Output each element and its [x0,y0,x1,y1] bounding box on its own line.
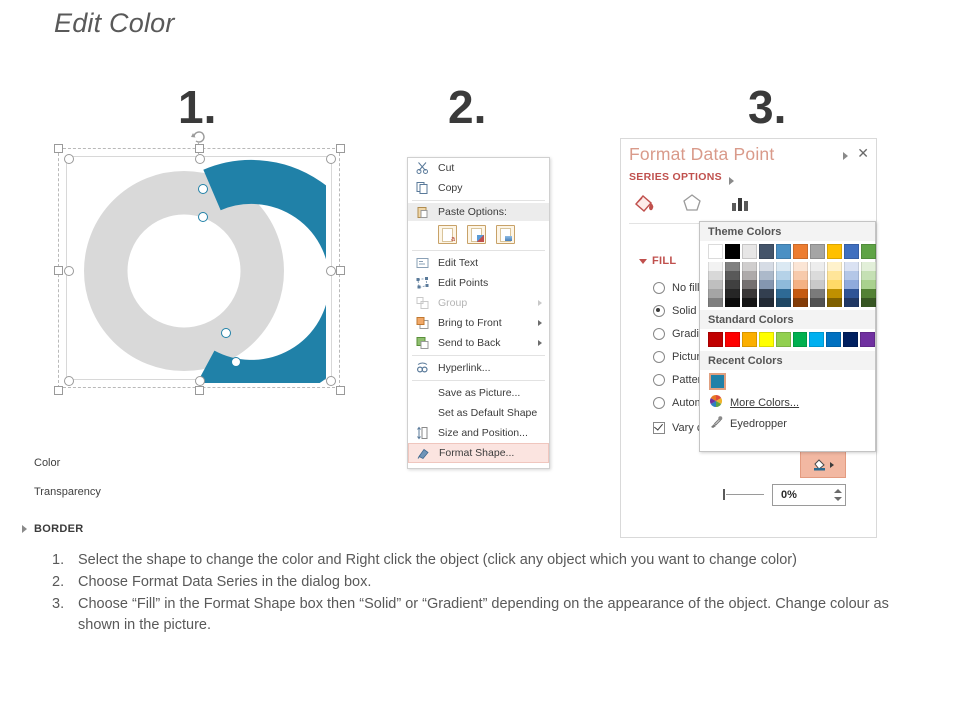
context-menu-item-save-as-picture[interactable]: Save as Picture... [408,383,549,403]
fill-option-gradient-fill[interactable]: Gradie [653,328,705,340]
plot-handle-middle-left[interactable] [64,266,74,276]
theme-color-column[interactable] [776,244,791,307]
data-point-handle-start-outer[interactable] [198,184,208,194]
data-point-handle-end-inner[interactable] [221,328,231,338]
context-menu-item-size-and-position[interactable]: Size and Position... [408,423,549,443]
theme-color-variant-swatch[interactable] [793,280,808,289]
theme-color-variant-swatch[interactable] [725,298,740,307]
instruction-number: 2. [52,572,78,593]
data-point-handle-end-outer[interactable] [231,357,241,367]
theme-color-variant-swatch[interactable] [759,280,774,289]
fill-option-label: No fill [672,282,700,294]
standard-color-swatch[interactable] [742,332,757,347]
theme-color-variant-swatch[interactable] [759,271,774,280]
theme-color-variant-swatch[interactable] [742,298,757,307]
theme-color-variant-swatch[interactable] [708,289,723,298]
standard-color-swatch[interactable] [809,332,824,347]
more-colors-label: More Colors... [730,397,799,409]
instruction-number: 3. [52,594,78,636]
selection-handle-bottom-right[interactable] [336,386,345,395]
theme-color-variant-swatch[interactable] [810,298,825,307]
transparency-slider-knob[interactable] [723,489,725,500]
theme-color-variant-swatch[interactable] [793,289,808,298]
chevron-down-icon[interactable] [843,152,848,160]
series-options-tab-icon[interactable] [727,191,753,217]
theme-color-variant-swatch[interactable] [861,280,876,289]
theme-color-variant-swatch[interactable] [759,262,774,271]
edit-text-icon [415,256,430,271]
theme-color-variant-swatch[interactable] [810,271,825,280]
radio-icon[interactable] [653,374,665,386]
step-number-3: 3. [748,84,786,130]
theme-color-variant-swatch[interactable] [844,280,859,289]
theme-colors-grid[interactable] [700,241,875,307]
selection-handle-middle-right[interactable] [336,266,345,275]
context-menu-label: Format Shape... [439,447,514,459]
context-menu-label: Size and Position... [438,427,528,439]
theme-color-column[interactable] [759,244,774,307]
selection-handle-bottom-center[interactable] [195,386,204,395]
instruction-item: 2. Choose Format Data Series in the dial… [52,572,902,593]
theme-color-swatch[interactable] [793,244,808,259]
theme-color-variant-swatch[interactable] [827,280,842,289]
context-menu-item-set-as-default-shape[interactable]: Set as Default Shape [408,403,549,423]
transparency-label: Transparency [34,486,101,498]
standard-color-swatch[interactable] [826,332,841,347]
context-menu-item-hyperlink[interactable]: Hyperlink... [408,358,549,378]
submenu-arrow-icon [538,320,542,326]
paste-options-row[interactable] [408,221,549,248]
theme-color-column[interactable] [827,244,842,307]
context-menu-label: Hyperlink... [438,362,491,374]
color-picker-flyout[interactable]: Theme Colors Standard Colors Recent Colo… [699,221,876,452]
theme-color-variant-swatch[interactable] [708,271,723,280]
paste-keep-text-only-icon[interactable] [438,225,457,244]
context-menu-item-send-to-back[interactable]: Send to Back [408,333,549,353]
theme-color-swatch[interactable] [810,244,825,259]
context-menu[interactable]: Cut Copy Paste Options: [407,157,550,469]
spinner-up-icon[interactable] [834,489,842,493]
context-menu-label: Save as Picture... [438,387,520,399]
context-menu-label: Copy [438,182,463,194]
radio-icon[interactable] [653,351,665,363]
theme-color-swatch[interactable] [844,244,859,259]
border-section-expander-icon[interactable] [22,525,27,533]
instruction-number: 1. [52,550,78,571]
theme-color-variant-swatch[interactable] [827,271,842,280]
format-pane-tabs[interactable] [631,191,753,217]
theme-color-variant-swatch[interactable] [861,289,876,298]
standard-colors-header: Standard Colors [700,310,875,329]
radio-icon[interactable] [653,328,665,340]
checkbox-icon-checked[interactable] [653,422,665,434]
color-picker-button[interactable] [800,451,846,478]
radio-icon-selected[interactable] [653,305,665,317]
group-icon [415,296,430,311]
edit-points-icon [415,276,430,291]
context-menu-label: Group [438,297,467,309]
theme-color-variant-swatch[interactable] [861,298,876,307]
theme-color-column[interactable] [708,244,723,307]
context-menu-item-cut[interactable]: Cut [408,158,549,178]
slide-canvas: Edit Color 1. 2. 3. [0,0,960,720]
context-menu-item-copy[interactable]: Copy [408,178,549,198]
theme-color-variant-swatch[interactable] [810,262,825,271]
context-menu-separator [412,355,545,356]
format-pane-title: Format Data Point [629,144,774,165]
theme-color-variant-swatch[interactable] [844,262,859,271]
theme-color-variant-swatch[interactable] [827,262,842,271]
context-menu-item-group: Group [408,293,549,313]
theme-color-variant-swatch[interactable] [708,262,723,271]
transparency-value: 0% [773,489,797,501]
instruction-item: 3. Choose “Fill” in the Format Shape box… [52,594,902,636]
context-menu-label: Set as Default Shape [438,407,537,419]
step-number-1: 1. [178,84,216,130]
context-menu-item-edit-points[interactable]: Edit Points [408,273,549,293]
plot-handle-top-left[interactable] [64,154,74,164]
theme-color-column[interactable] [861,244,876,307]
theme-color-variant-swatch[interactable] [708,280,723,289]
plot-handle-bottom-left[interactable] [64,376,74,386]
format-shape-icon [416,446,431,461]
theme-color-variant-swatch[interactable] [742,280,757,289]
fill-option-solid-fill[interactable]: Solid fi [653,305,705,317]
theme-color-swatch[interactable] [742,244,757,259]
context-menu-separator [412,380,545,381]
theme-color-column[interactable] [793,244,808,307]
standard-color-swatch[interactable] [759,332,774,347]
fill-option-automatic[interactable]: Autom [653,397,704,409]
theme-color-swatch[interactable] [776,244,791,259]
theme-color-variant-swatch[interactable] [742,271,757,280]
radio-icon[interactable] [653,397,665,409]
theme-color-variant-swatch[interactable] [827,298,842,307]
theme-color-variant-swatch[interactable] [844,271,859,280]
theme-color-swatch[interactable] [861,244,876,259]
eyedropper-icon [709,415,723,432]
theme-color-column[interactable] [742,244,757,307]
fill-and-line-tab-icon[interactable] [631,191,657,217]
context-menu-item-edit-text[interactable]: Edit Text [408,253,549,273]
theme-colors-header: Theme Colors [700,222,875,241]
context-menu-separator [412,200,545,201]
theme-color-variant-swatch[interactable] [793,271,808,280]
theme-color-variant-swatch[interactable] [861,271,876,280]
instruction-item: 1. Select the shape to change the color … [52,550,902,571]
data-point-handle-start-inner[interactable] [198,212,208,222]
theme-color-variant-swatch[interactable] [742,289,757,298]
theme-color-variant-swatch[interactable] [844,298,859,307]
instruction-text: Choose Format Data Series in the dialog … [78,572,902,593]
theme-color-variant-swatch[interactable] [725,280,740,289]
context-menu-label: Cut [438,162,454,174]
hyperlink-icon [415,361,430,376]
standard-color-swatch[interactable] [860,332,875,347]
context-menu-item-bring-to-front[interactable]: Bring to Front [408,313,549,333]
eyedropper-option[interactable]: Eyedropper [700,413,875,434]
paste-options-label: Paste Options: [438,206,507,218]
theme-color-variant-swatch[interactable] [759,298,774,307]
eyedropper-label: Eyedropper [730,418,787,430]
context-menu-label: Edit Text [438,257,478,269]
page-title: Edit Color [54,8,175,39]
border-section-label: BORDER [34,523,83,535]
series-options-dropdown-label[interactable]: SERIES OPTIONS [629,171,722,183]
selection-handle-middle-left[interactable] [54,266,63,275]
standard-color-swatch[interactable] [708,332,723,347]
send-to-back-icon [415,336,430,351]
theme-color-variant-swatch[interactable] [793,262,808,271]
scissors-icon [415,161,430,176]
submenu-arrow-icon [538,340,542,346]
context-menu-label: Bring to Front [438,317,502,329]
standard-color-swatch[interactable] [776,332,791,347]
recent-color-swatch[interactable] [709,373,726,390]
paste-picture-icon[interactable] [496,225,515,244]
theme-color-variant-swatch[interactable] [759,289,774,298]
bring-to-front-icon [415,316,430,331]
theme-color-variant-swatch[interactable] [776,280,791,289]
theme-color-variant-swatch[interactable] [776,271,791,280]
chart-selection-frame[interactable] [58,148,340,388]
theme-color-variant-swatch[interactable] [793,298,808,307]
fill-option-no-fill[interactable]: No fill [653,282,700,294]
theme-color-swatch[interactable] [759,244,774,259]
selection-handle-top-right[interactable] [336,144,345,153]
plot-handle-bottom-right[interactable] [326,376,336,386]
theme-color-swatch[interactable] [708,244,723,259]
transparency-spinner[interactable]: 0% [772,484,846,506]
theme-color-variant-swatch[interactable] [725,271,740,280]
theme-color-variant-swatch[interactable] [776,298,791,307]
selection-handle-top-center[interactable] [195,144,204,153]
theme-color-variant-swatch[interactable] [776,289,791,298]
theme-color-variant-swatch[interactable] [810,280,825,289]
theme-color-swatch[interactable] [725,244,740,259]
spinner-buttons[interactable] [833,487,842,503]
selection-handle-bottom-left[interactable] [54,386,63,395]
instruction-text: Select the shape to change the color and… [78,550,902,571]
instructions-list: 1. Select the shape to change the color … [52,550,902,638]
theme-color-variant-swatch[interactable] [742,262,757,271]
color-wheel-icon [709,394,723,411]
recent-colors-grid[interactable] [700,370,875,392]
theme-color-swatch[interactable] [827,244,842,259]
close-icon[interactable]: ✕ [857,146,869,160]
color-field-label: Color [34,457,60,469]
plot-handle-top-center[interactable] [195,154,205,164]
theme-color-column[interactable] [725,244,740,307]
instruction-text: Choose “Fill” in the Format Shape box th… [78,594,902,636]
recent-colors-header: Recent Colors [700,351,875,370]
size-position-icon [415,426,430,441]
standard-colors-grid[interactable] [700,329,875,351]
selection-handle-top-left[interactable] [54,144,63,153]
fill-bucket-icon [812,458,827,471]
paste-icon [415,205,430,220]
context-menu-separator [412,250,545,251]
context-menu-label: Edit Points [438,277,488,289]
transparency-slider-track[interactable] [726,494,764,495]
plot-handle-bottom-center[interactable] [195,376,205,386]
spinner-down-icon[interactable] [834,497,842,501]
submenu-arrow-icon [538,300,542,306]
plot-handle-middle-right[interactable] [326,266,336,276]
context-menu-item-format-shape[interactable]: Format Shape... [408,443,549,463]
theme-color-column[interactable] [810,244,825,307]
theme-color-variant-swatch[interactable] [776,262,791,271]
standard-color-swatch[interactable] [843,332,858,347]
plot-handle-top-right[interactable] [326,154,336,164]
more-colors-option[interactable]: More Colors... [700,392,875,413]
theme-color-variant-swatch[interactable] [861,262,876,271]
copy-icon [415,181,430,196]
theme-color-variant-swatch[interactable] [725,262,740,271]
fill-section-label: FILL [652,255,676,267]
standard-color-swatch[interactable] [725,332,740,347]
effects-tab-icon[interactable] [679,191,705,217]
chevron-down-icon[interactable] [729,177,734,185]
radio-icon[interactable] [653,282,665,294]
theme-color-column[interactable] [844,244,859,307]
paste-keep-source-formatting-icon[interactable] [467,225,486,244]
theme-color-variant-swatch[interactable] [810,289,825,298]
fill-section-expander-icon[interactable] [639,259,647,264]
context-menu-label: Send to Back [438,337,500,349]
theme-color-variant-swatch[interactable] [708,298,723,307]
step-number-2: 2. [448,84,486,130]
theme-color-variant-swatch[interactable] [827,289,842,298]
chevron-down-icon[interactable] [830,462,834,468]
context-menu-paste-options-header: Paste Options: [408,203,549,221]
standard-color-swatch[interactable] [793,332,808,347]
theme-color-variant-swatch[interactable] [725,289,740,298]
theme-color-variant-swatch[interactable] [844,289,859,298]
